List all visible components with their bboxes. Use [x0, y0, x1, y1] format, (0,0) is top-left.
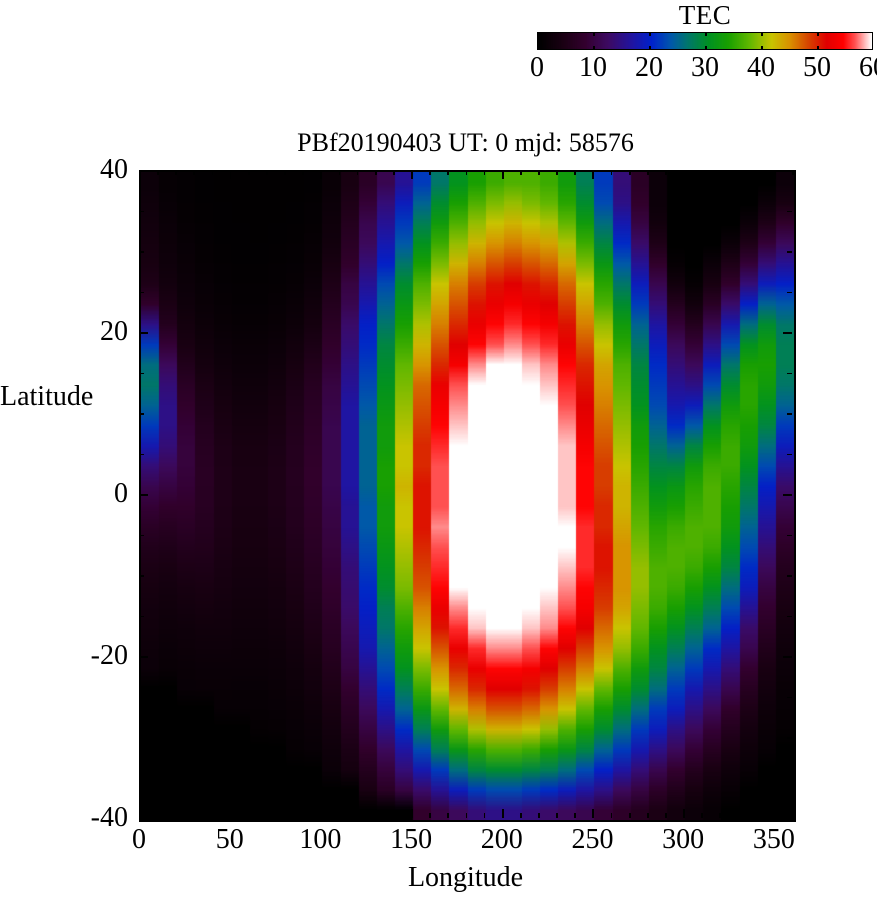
x-axis-tick-labels: 050100150200250300350: [139, 824, 792, 860]
y-axis-tick-label: 40: [100, 155, 128, 185]
x-axis-tick-label: 350: [753, 824, 795, 856]
x-axis-tick-label: 150: [390, 824, 432, 856]
x-axis-tick-label: 0: [132, 824, 146, 856]
colorbar-tick-label: 40: [747, 52, 775, 84]
y-axis-tick-label: 0: [114, 479, 128, 509]
colorbar-tick-label: 50: [803, 52, 831, 84]
colorbar-tick-labels: 0102030405060: [522, 52, 877, 86]
colorbar-tick-label: 0: [530, 52, 544, 84]
y-axis-tick-label: 20: [100, 317, 128, 347]
colorbar-tick-label: 20: [635, 52, 663, 84]
x-axis-tick-label: 50: [216, 824, 244, 856]
x-axis-tick-label: 250: [571, 824, 613, 856]
plot-frame: [139, 170, 796, 822]
plot-title: PBf20190403 UT: 0 mjd: 58576: [139, 128, 792, 158]
y-axis-tick-label: -40: [91, 803, 128, 833]
y-axis-title: Latitude: [0, 381, 93, 413]
x-axis-title: Longitude: [139, 862, 792, 894]
colorbar-gradient: [538, 33, 872, 49]
colorbar-tick-label: 60: [859, 52, 877, 84]
y-axis-tick-labels: 40200-20-40: [0, 170, 128, 818]
colorbar-tick-label: 10: [579, 52, 607, 84]
heatmap-canvas: [141, 172, 794, 820]
colorbar-tick-label: 30: [691, 52, 719, 84]
colorbar: [537, 32, 873, 50]
colorbar-title: TEC: [537, 0, 873, 30]
y-axis-tick-label: -20: [91, 641, 128, 671]
x-axis-tick-label: 300: [662, 824, 704, 856]
x-axis-tick-label: 100: [299, 824, 341, 856]
x-axis-tick-label: 200: [481, 824, 523, 856]
